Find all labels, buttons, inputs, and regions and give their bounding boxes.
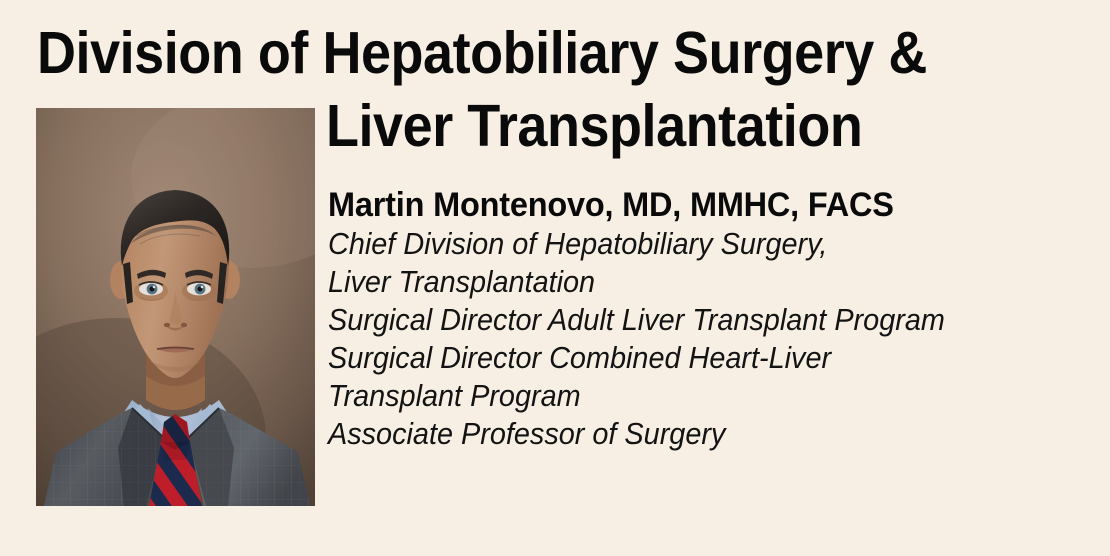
person-role-line-4: Surgical Director Combined Heart-Liver — [328, 339, 1044, 377]
portrait-illustration — [36, 108, 315, 506]
person-role-line-2: Liver Transplantation — [328, 263, 1044, 301]
person-role-line-5: Transplant Program — [328, 377, 1044, 415]
portrait-photo — [36, 108, 315, 506]
person-role-line-6: Associate Professor of Surgery — [328, 415, 1044, 453]
person-name: Martin Montenovo, MD, MMHC, FACS — [328, 186, 1063, 225]
title-line-1: Division of Hepatobiliary Surgery & — [37, 22, 927, 84]
slide-canvas: Division of Hepatobiliary Surgery & Live… — [0, 0, 1110, 556]
person-role-line-3: Surgical Director Adult Liver Transplant… — [328, 301, 1044, 339]
person-info-block: Martin Montenovo, MD, MMHC, FACS Chief D… — [328, 186, 1098, 453]
title-line-2: Liver Transplantation — [326, 95, 862, 157]
person-role-line-1: Chief Division of Hepatobiliary Surgery, — [328, 225, 1044, 263]
